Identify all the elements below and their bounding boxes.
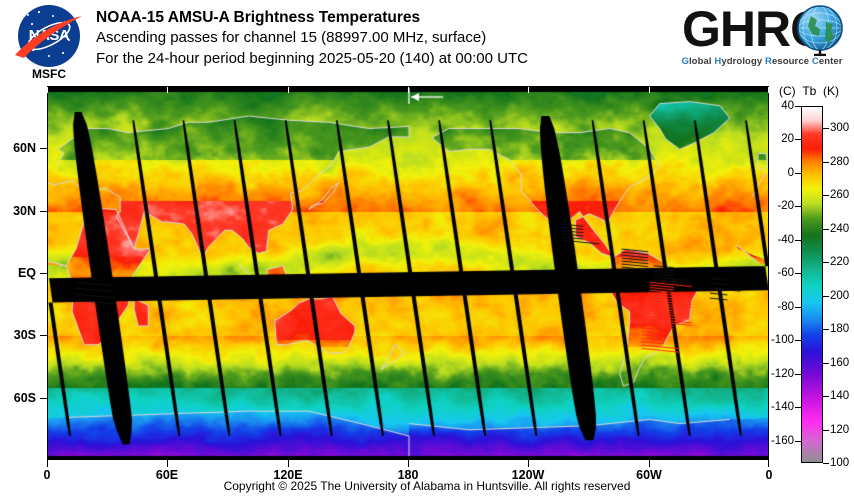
page-header: NASA MSFC NOAA-15 AMSU-A Brightness Temp… [0, 0, 854, 86]
x-axis-tick-top [649, 87, 650, 93]
y-axis-label: 60S [0, 391, 36, 405]
y-axis-label: 30S [0, 328, 36, 342]
title-block: NOAA-15 AMSU-A Brightness Temperatures A… [96, 8, 676, 69]
x-axis-tick-top [768, 87, 769, 93]
colorbar-label-kelvin: 120 [830, 424, 849, 436]
x-axis-tick [47, 460, 48, 467]
colorbar-tick-kelvin [823, 296, 829, 297]
page-subtitle-channel: Ascending passes for channel 15 (88997.0… [96, 27, 676, 48]
colorbar-tick-kelvin [823, 430, 829, 431]
colorbar-label-kelvin: 180 [830, 323, 849, 335]
colorbar-tick-kelvin [823, 329, 829, 330]
colorbar-label-celsius: 0 [770, 167, 794, 179]
colorbar-tick-kelvin [823, 262, 829, 263]
colorbar-variable: Tb [802, 84, 816, 98]
colorbar-tick-celsius [795, 173, 801, 174]
colorbar-tick-kelvin [823, 463, 829, 464]
colorbar-label-kelvin: 160 [830, 357, 849, 369]
x-axis-tick [167, 460, 168, 467]
colorbar-tick-celsius [795, 240, 801, 241]
colorbar-tick-kelvin [823, 363, 829, 364]
ghrc-wordmark-icon: GHRC [680, 4, 848, 56]
y-axis-label: EQ [0, 266, 36, 280]
page-subtitle-period: For the 24-hour period beginning 2025-05… [96, 48, 676, 69]
x-axis-tick [288, 460, 289, 467]
y-axis-label: 60N [0, 141, 36, 155]
colorbar-label-kelvin: 260 [830, 189, 849, 201]
page-title: NOAA-15 AMSU-A Brightness Temperatures [96, 8, 676, 27]
colorbar-label-kelvin: 240 [830, 223, 849, 235]
colorbar-label-kelvin: 200 [830, 290, 849, 302]
x-axis-tick-top [408, 87, 409, 93]
colorbar-tick-celsius [795, 139, 801, 140]
colorbar-label-celsius: -40 [770, 234, 794, 246]
colorbar-unit-celsius: (C) [779, 84, 796, 98]
colorbar-tick-celsius [795, 374, 801, 375]
ghrc-subtitle: Global Hydrology Resource Center [676, 56, 848, 67]
x-axis-tick [768, 460, 769, 467]
y-axis-tick [40, 148, 47, 149]
y-axis-tick [40, 211, 47, 212]
x-axis-tick-top [167, 87, 168, 93]
x-axis-tick [649, 460, 650, 467]
colorbar-tick-celsius [795, 106, 801, 107]
colorbar-label-celsius: -140 [770, 401, 794, 413]
colorbar-label-celsius: 20 [770, 133, 794, 145]
colorbar-tick-kelvin [823, 229, 829, 230]
colorbar-gradient [802, 107, 822, 462]
colorbar-tick-kelvin [823, 128, 829, 129]
nasa-logo: NASA MSFC [10, 5, 88, 83]
x-axis-tick [408, 460, 409, 467]
colorbar-label-celsius: -120 [770, 368, 794, 380]
x-axis-tick-top [47, 87, 48, 93]
colorbar-label-celsius: -60 [770, 267, 794, 279]
x-axis-tick [528, 460, 529, 467]
colorbar-tick-celsius [795, 441, 801, 442]
colorbar-tick-celsius [795, 307, 801, 308]
colorbar-label-celsius: -160 [770, 435, 794, 447]
colorbar-tick-celsius [795, 206, 801, 207]
brightness-temperature-map[interactable] [47, 86, 769, 460]
colorbar-label-kelvin: 280 [830, 156, 849, 168]
colorbar-header: (C) Tb (K) [779, 84, 839, 98]
colorbar-unit-kelvin: (K) [823, 84, 839, 98]
colorbar-tick-kelvin [823, 396, 829, 397]
y-axis-tick [40, 273, 47, 274]
colorbar-tick-kelvin [823, 195, 829, 196]
colorbar-label-kelvin: 100 [830, 457, 849, 469]
colorbar-label-celsius: -20 [770, 200, 794, 212]
y-axis-tick [40, 335, 47, 336]
colorbar-label-kelvin: 140 [830, 390, 849, 402]
colorbar-label-celsius: -80 [770, 301, 794, 313]
colorbar-label-kelvin: 220 [830, 256, 849, 268]
map-raster [48, 87, 769, 460]
x-axis-tick-top [288, 87, 289, 93]
copyright-notice: Copyright © 2025 The University of Alaba… [0, 479, 854, 493]
nasa-center-label: MSFC [10, 67, 88, 81]
nasa-swoosh-icon [12, 13, 86, 59]
colorbar-label-kelvin: 300 [830, 122, 849, 134]
ghrc-logo: GHRC Global Hydrology Resource Center [676, 2, 848, 74]
x-axis-tick-top [528, 87, 529, 93]
colorbar-label-celsius: -100 [770, 334, 794, 346]
colorbar-label-celsius: 40 [770, 100, 794, 112]
colorbar-tick-celsius [795, 407, 801, 408]
colorbar-tick-celsius [795, 273, 801, 274]
colorbar[interactable] [801, 106, 823, 463]
y-axis-label: 30N [0, 204, 36, 218]
colorbar-tick-celsius [795, 340, 801, 341]
y-axis-tick [40, 398, 47, 399]
colorbar-tick-kelvin [823, 162, 829, 163]
